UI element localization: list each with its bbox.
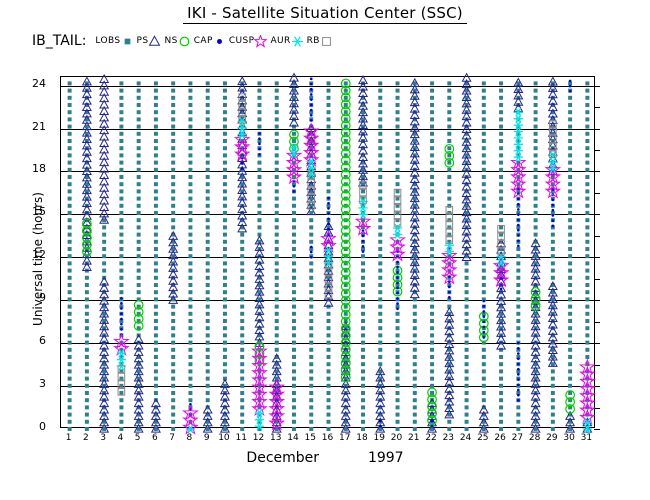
dot-icon — [213, 35, 226, 48]
chart-canvas: IKI - Satellite Situation Center (SSC) I… — [0, 0, 650, 500]
asterisk-icon — [291, 35, 304, 48]
legend-item-rb: RB — [307, 35, 333, 48]
legend-item-label: RB — [307, 36, 320, 46]
legend-item-cusp: CUSP — [229, 35, 268, 48]
legend-item-label: AUR — [270, 36, 290, 46]
page-title: IKI - Satellite Situation Center (SSC) — [0, 4, 650, 24]
legend-item-aur: AUR — [270, 35, 303, 48]
circle-icon — [178, 35, 191, 48]
series-rb — [61, 77, 596, 429]
legend-item-label: PS — [137, 36, 149, 46]
y-tick-label: 0 — [6, 420, 46, 433]
legend-label: IB_TAIL: — [32, 33, 86, 49]
x-axis-year: 1997 — [368, 450, 404, 466]
y-tick-label: 12 — [6, 248, 46, 261]
legend-item-label: NS — [164, 36, 177, 46]
plot-area — [60, 76, 595, 428]
y-tick-label: 15 — [6, 205, 46, 218]
x-axis-title: December 1997 — [0, 450, 650, 466]
y-tick-label: 18 — [6, 162, 46, 175]
open-square-icon — [320, 35, 333, 48]
y-tick-label: 6 — [6, 334, 46, 347]
y-tick-label: 24 — [6, 77, 46, 90]
legend-item-label: LOBS — [95, 36, 120, 46]
star-icon — [254, 35, 267, 48]
legend: IB_TAIL: LOBSPSNSCAPCUSPAURRB — [32, 33, 336, 49]
legend-item-ps: PS — [137, 35, 162, 48]
y-tick-label: 9 — [6, 291, 46, 304]
legend-item-cap: CAP — [194, 35, 226, 48]
triangle-icon — [148, 35, 161, 48]
y-tick-label: 21 — [6, 120, 46, 133]
y-minor-tick — [594, 429, 600, 430]
y-tick-label: 3 — [6, 377, 46, 390]
filled-square-icon — [121, 35, 134, 48]
legend-item-lobs: LOBS — [95, 35, 133, 48]
x-axis-month: December — [246, 450, 319, 466]
x-tick-label: 31 — [574, 433, 598, 443]
legend-item-label: CAP — [194, 36, 213, 46]
legend-items: LOBSPSNSCAPCUSPAURRB — [95, 35, 335, 48]
legend-item-ns: NS — [164, 35, 190, 48]
page-title-text: IKI - Satellite Situation Center (SSC) — [183, 4, 467, 24]
legend-item-label: CUSP — [229, 36, 255, 46]
